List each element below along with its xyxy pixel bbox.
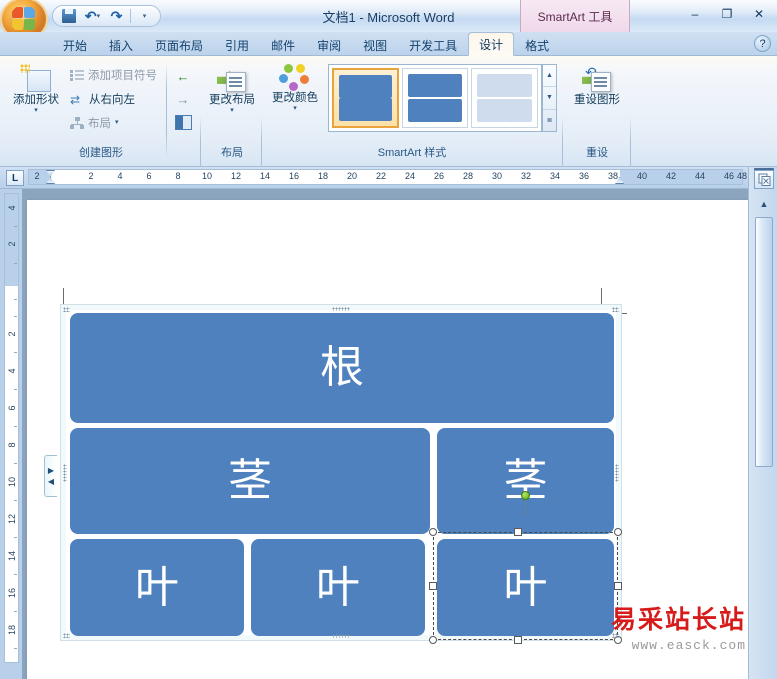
rotation-handle-stem-right[interactable] xyxy=(521,491,530,500)
selection-box-leaf-3 xyxy=(433,532,618,640)
smartart-canvas[interactable]: 根 茎 茎 叶 叶 xyxy=(66,310,616,635)
undo-button[interactable]: ↶ ▾ xyxy=(82,7,103,25)
ruler-label: 42 xyxy=(666,171,676,181)
ribbon-group-create-graphic: 添加形状 ▾ 添加项目符号 ⇄ 从右向左 xyxy=(2,58,200,163)
ruler-label: 28 xyxy=(463,171,473,181)
smartart-style-3[interactable] xyxy=(471,68,538,128)
change-layout-icon xyxy=(215,64,249,94)
tab-insert[interactable]: 插入 xyxy=(98,34,144,56)
tab-page-layout[interactable]: 页面布局 xyxy=(144,34,214,56)
select-browse-object-button[interactable] xyxy=(754,170,774,189)
add-shape-icon xyxy=(20,64,52,94)
promote-demote-column: ← → xyxy=(172,66,194,132)
ruler-label: 8 xyxy=(7,442,17,447)
smartart-node-text: 叶 xyxy=(135,566,179,610)
smartart-node-leaf-2[interactable]: 叶 xyxy=(251,539,425,636)
color-palette-icon xyxy=(278,64,312,92)
scrollbar-thumb[interactable] xyxy=(755,217,773,467)
resize-handle-top-left[interactable] xyxy=(429,528,437,536)
resize-handle-middle-left[interactable] xyxy=(429,582,437,590)
document-canvas[interactable]: 根 茎 茎 叶 叶 xyxy=(22,189,748,679)
watermark: 易采站长站 www.easck.com xyxy=(611,600,746,653)
right-to-left-button[interactable]: ⇄ 从右向左 xyxy=(70,91,135,107)
change-colors-button[interactable]: 更改颜色 ▾ xyxy=(266,64,324,113)
smartart-style-1[interactable] xyxy=(332,68,399,128)
smartart-node-stem-right[interactable]: 茎 xyxy=(437,428,614,534)
gallery-scroll-down-button[interactable]: ▼ xyxy=(543,87,556,109)
gallery-scroll-up-button[interactable]: ▲ xyxy=(543,65,556,87)
vertical-scrollbar[interactable]: ▲ xyxy=(748,167,777,679)
tab-mailings[interactable]: 邮件 xyxy=(260,34,306,56)
change-layout-button[interactable]: 更改布局 ▾ xyxy=(204,64,260,115)
ruler-label: 38 xyxy=(608,171,618,181)
ruler-label: 6 xyxy=(7,405,17,410)
smartart-graphic[interactable]: 根 茎 茎 叶 叶 xyxy=(60,304,622,641)
reset-graphic-button[interactable]: ↶ 重设图形 xyxy=(566,64,628,107)
watermark-title: 易采站长站 xyxy=(611,600,746,636)
text-pane-button[interactable] xyxy=(172,112,194,132)
ruler-label: 30 xyxy=(492,171,502,181)
office-logo-icon xyxy=(10,5,38,33)
tab-stop-selector[interactable]: L xyxy=(6,170,24,186)
layout-button[interactable]: 布局 ▾ xyxy=(70,115,119,131)
right-to-left-icon: ⇄ xyxy=(70,93,85,105)
layout-dropdown-icon[interactable]: ▾ xyxy=(115,119,119,127)
ruler-label: 12 xyxy=(231,171,241,181)
resize-handle-top-center[interactable] xyxy=(514,528,522,536)
ruler-label: 4 xyxy=(7,368,17,373)
close-button[interactable]: ✕ xyxy=(747,4,771,24)
redo-icon: ↷ xyxy=(111,8,123,25)
org-layout-icon xyxy=(70,117,84,129)
vertical-ruler[interactable]: 4 2 2 4 6 8 10 12 14 16 18 xyxy=(0,189,22,679)
resize-handle-top-right[interactable] xyxy=(614,528,622,536)
frame-handle-top-left[interactable] xyxy=(63,307,70,312)
resize-handle-bottom-left[interactable] xyxy=(429,636,437,644)
horizontal-ruler[interactable]: L 2 2 4 6 8 10 12 14 16 18 20 22 24 26 2… xyxy=(0,167,777,189)
ruler-label: 10 xyxy=(202,171,212,181)
group-label-smartart-styles: SmartArt 样式 xyxy=(264,142,560,162)
resize-handle-middle-right[interactable] xyxy=(614,582,622,590)
ruler-label: 18 xyxy=(318,171,328,181)
tab-design[interactable]: 设计 xyxy=(468,32,514,56)
ruler-label: 2 xyxy=(34,171,39,181)
gallery-scrollbar[interactable]: ▲ ▼ ≣ xyxy=(542,64,557,132)
smartart-node-text: 茎 xyxy=(228,459,272,503)
horizontal-ruler-track[interactable]: 2 2 4 6 8 10 12 14 16 18 20 22 24 26 28 … xyxy=(28,169,743,185)
undo-dropdown-icon[interactable]: ▾ xyxy=(97,12,101,20)
demote-button[interactable]: → xyxy=(172,89,194,109)
customize-qat-button[interactable]: ▾ xyxy=(134,7,155,25)
smartart-style-gallery xyxy=(328,64,542,132)
reset-graphic-icon: ↶ xyxy=(580,64,614,94)
ruler-label: 36 xyxy=(579,171,589,181)
maximize-button[interactable]: ❐ xyxy=(715,4,739,24)
tab-developer[interactable]: 开发工具 xyxy=(398,34,468,56)
window-controls: – ❐ ✕ xyxy=(683,4,771,24)
smartart-node-leaf-1[interactable]: 叶 xyxy=(70,539,244,636)
ruler-label: 26 xyxy=(434,171,444,181)
text-pane-toggle-button[interactable]: ▶ ◀ xyxy=(44,455,57,497)
ruler-label: 2 xyxy=(7,241,17,246)
frame-handle-middle-right[interactable] xyxy=(615,464,619,482)
ruler-label: 16 xyxy=(289,171,299,181)
rotation-stem xyxy=(525,500,526,516)
word-window: 文档1 - Microsoft Word SmartArt 工具 ↶ ▾ ↷ ▾ xyxy=(0,0,777,679)
vertical-ruler-track[interactable]: 4 2 2 4 6 8 10 12 14 16 18 xyxy=(4,193,19,663)
ribbon-group-layout: 更改布局 ▾ 布局 xyxy=(204,58,260,163)
tab-view[interactable]: 视图 xyxy=(352,34,398,56)
tab-review[interactable]: 审阅 xyxy=(306,34,352,56)
group-label-reset: 重设 xyxy=(566,142,628,162)
change-colors-dropdown-icon[interactable]: ▾ xyxy=(293,105,297,113)
tab-references[interactable]: 引用 xyxy=(214,34,260,56)
resize-handle-bottom-center[interactable] xyxy=(514,636,522,644)
undo-icon: ↶ xyxy=(85,8,97,25)
ruler-label: 22 xyxy=(376,171,386,181)
save-button[interactable] xyxy=(58,7,79,25)
ruler-label: 32 xyxy=(521,171,531,181)
ruler-label: 48 xyxy=(737,171,747,181)
frame-handle-bottom-center[interactable] xyxy=(332,634,350,638)
ruler-label: 20 xyxy=(347,171,357,181)
ruler-label: 14 xyxy=(7,551,17,561)
smartart-style-2[interactable] xyxy=(402,68,469,128)
smartart-node-stem-left[interactable]: 茎 xyxy=(70,428,430,534)
quick-access-toolbar: ↶ ▾ ↷ ▾ xyxy=(52,5,161,27)
text-pane-icon xyxy=(175,115,192,130)
ruler-label: 40 xyxy=(637,171,647,181)
ruler-label: 18 xyxy=(7,625,17,635)
ruler-label: 4 xyxy=(117,171,122,181)
promote-button[interactable]: ← xyxy=(172,66,194,86)
ruler-label: 46 xyxy=(724,171,734,181)
gallery-more-button[interactable]: ≣ xyxy=(543,110,556,131)
ruler-label: 44 xyxy=(695,171,705,181)
change-layout-dropdown-icon[interactable]: ▾ xyxy=(230,107,234,115)
frame-handle-middle-left[interactable] xyxy=(63,464,67,482)
frame-handle-top-right[interactable] xyxy=(612,307,619,312)
divider xyxy=(130,9,131,23)
add-shape-button[interactable]: 添加形状 ▾ xyxy=(6,64,66,115)
smartart-node-text: 叶 xyxy=(316,566,360,610)
ruler-label: 34 xyxy=(550,171,560,181)
smartart-node-root[interactable]: 根 xyxy=(70,313,614,423)
tab-home[interactable]: 开始 xyxy=(52,34,98,56)
help-icon[interactable]: ? xyxy=(754,35,771,52)
ribbon-group-reset: ↶ 重设图形 重设 xyxy=(566,58,628,163)
browse-object-icon xyxy=(758,173,771,186)
tab-format[interactable]: 格式 xyxy=(514,34,560,56)
ribbon-tabs: 开始 插入 页面布局 引用 邮件 审阅 视图 开发工具 设计 格式 xyxy=(52,32,560,56)
document-page[interactable]: 根 茎 茎 叶 叶 xyxy=(27,200,748,679)
ruler-label: 24 xyxy=(405,171,415,181)
ruler-label: 2 xyxy=(88,171,93,181)
ruler-label: 16 xyxy=(7,588,17,598)
watermark-url: www.easck.com xyxy=(611,638,746,653)
ruler-label: 8 xyxy=(175,171,180,181)
ruler-label: 2 xyxy=(7,331,17,336)
ruler-label: 10 xyxy=(7,477,17,487)
smartart-node-text: 根 xyxy=(320,346,364,390)
ribbon: 添加形状 ▾ 添加项目符号 ⇄ 从右向左 xyxy=(0,56,777,167)
ribbon-group-smartart-styles: 更改颜色 ▾ xyxy=(264,58,560,163)
group-label-layout: 布局 xyxy=(204,142,260,162)
title-bar: 文档1 - Microsoft Word SmartArt 工具 ↶ ▾ ↷ ▾ xyxy=(0,0,777,32)
chevron-down-icon: ▾ xyxy=(143,12,147,20)
ruler-label: 14 xyxy=(260,171,270,181)
ruler-label: 12 xyxy=(7,514,17,524)
chevron-left-icon: ◀ xyxy=(48,478,54,485)
ribbon-tab-strip: 开始 插入 页面布局 引用 邮件 审阅 视图 开发工具 设计 格式 ? xyxy=(0,32,777,56)
chevron-right-icon: ▶ xyxy=(48,467,54,474)
frame-handle-bottom-left[interactable] xyxy=(63,633,70,638)
redo-button[interactable]: ↷ xyxy=(106,7,127,25)
frame-handle-top-center[interactable] xyxy=(332,307,350,311)
minimize-button[interactable]: – xyxy=(683,4,707,24)
ruler-label: 6 xyxy=(146,171,151,181)
scroll-up-button[interactable]: ▲ xyxy=(754,195,774,213)
bullet-list-icon xyxy=(70,69,84,81)
ruler-label: 4 xyxy=(7,205,17,210)
contextual-tab-title: SmartArt 工具 xyxy=(520,0,630,32)
add-shape-dropdown-icon[interactable]: ▾ xyxy=(34,107,38,115)
group-label-create-graphic: 创建图形 xyxy=(2,142,200,162)
add-bullet-button[interactable]: 添加项目符号 xyxy=(70,67,157,83)
save-icon xyxy=(62,9,76,23)
